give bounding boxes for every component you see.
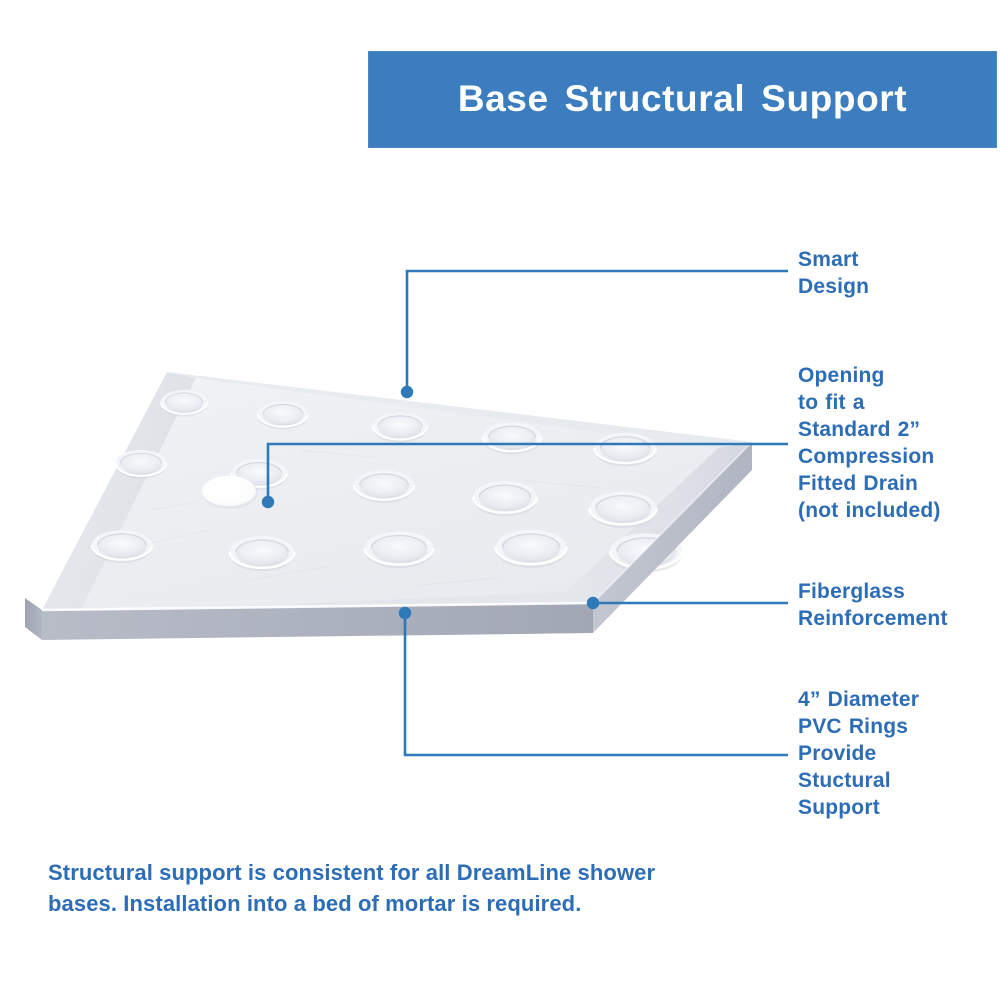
- callout-line: Fitted Drain: [798, 470, 998, 497]
- callout-fiberglass: Fiberglass Reinforcement: [798, 578, 998, 632]
- callout-line: (not included): [798, 497, 998, 524]
- callout-line: PVC Rings: [798, 713, 994, 740]
- header-banner: Base Structural Support: [368, 51, 997, 148]
- shower-base-illustration: [0, 330, 800, 670]
- callout-line: Fiberglass: [798, 578, 998, 605]
- callout-line: Reinforcement: [798, 605, 998, 632]
- callout-line: Opening: [798, 362, 998, 389]
- callout-line: Provide: [798, 740, 994, 767]
- callout-line: Support: [798, 794, 994, 821]
- callout-line: Compression: [798, 443, 998, 470]
- callout-line: Design: [798, 273, 994, 300]
- callout-line: Smart: [798, 246, 994, 273]
- callout-pvc-rings: 4” Diameter PVC Rings Provide Stuctural …: [798, 686, 994, 821]
- callout-drain-opening: Opening to fit a Standard 2” Compression…: [798, 362, 998, 524]
- product-diagram-page: Base Structural Support: [0, 0, 1000, 1000]
- tray-left-wall: [25, 598, 42, 640]
- callout-line: Standard 2”: [798, 416, 998, 443]
- footer-caption: Structural support is consistent for all…: [48, 857, 658, 919]
- callout-smart-design: Smart Design: [798, 246, 994, 300]
- callout-line: to fit a: [798, 389, 998, 416]
- callout-line: 4” Diameter: [798, 686, 994, 713]
- page-title: Base Structural Support: [458, 79, 907, 120]
- callout-line: Stuctural: [798, 767, 994, 794]
